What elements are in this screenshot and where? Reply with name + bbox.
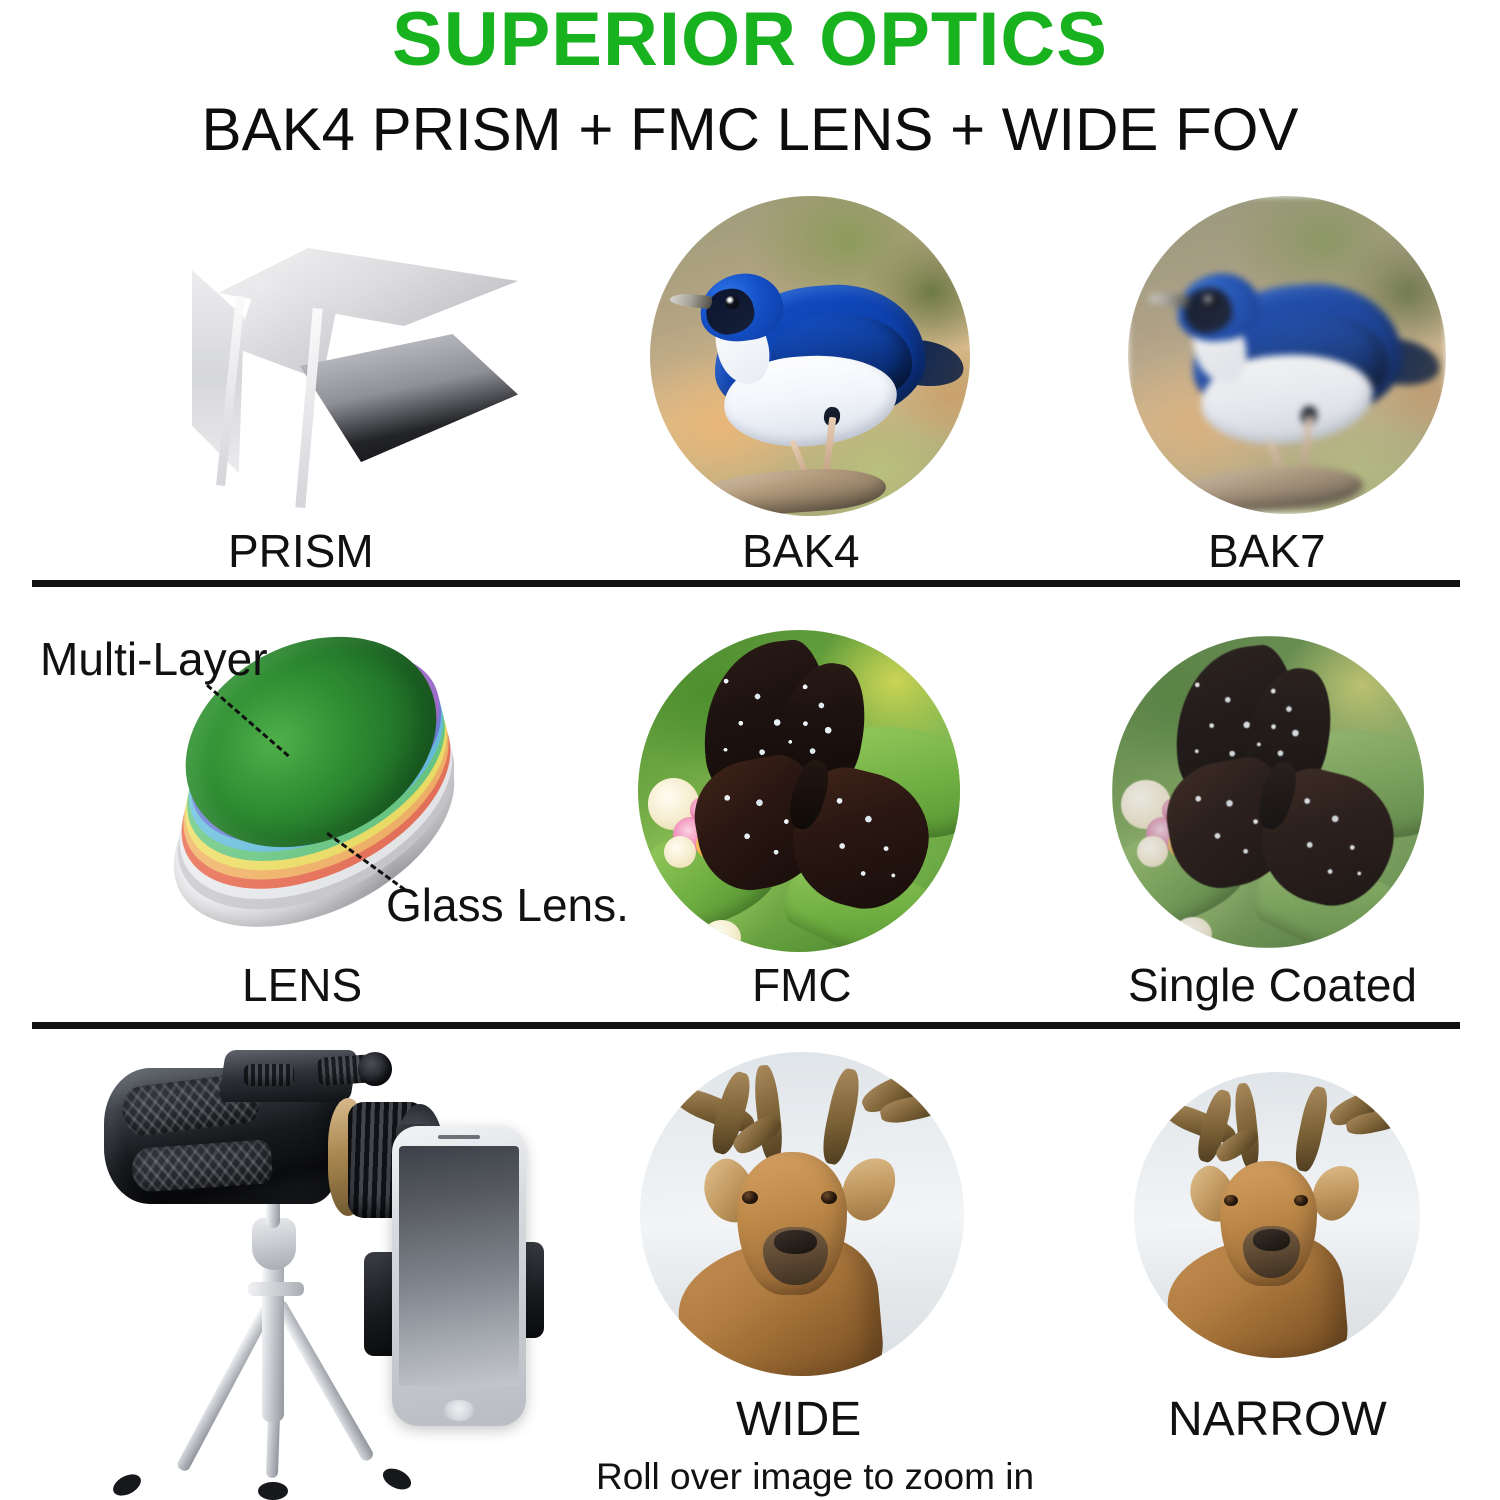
deer-narrow-field-photo	[1134, 1072, 1420, 1358]
row-divider-2	[32, 1022, 1460, 1029]
product-infographic: SUPERIOR OPTICS BAK4 PRISM + FMC LENS + …	[0, 0, 1500, 1500]
callout-multi-layer: Multi-Layer	[40, 636, 268, 682]
caption-lens: LENS	[242, 962, 362, 1008]
caption-fmc: FMC	[752, 962, 852, 1008]
page-title: SUPERIOR OPTICS	[0, 2, 1500, 78]
smartphone-mockup	[392, 1126, 526, 1426]
row-divider-1	[32, 580, 1460, 587]
caption-bak7: BAK7	[1208, 528, 1326, 574]
blue-bird-sharp-photo	[650, 196, 970, 516]
zoom-hint-overlay: Roll over image to zoom in	[596, 1456, 1034, 1498]
caption-bak4: BAK4	[742, 528, 860, 574]
butterfly-dull-photo	[1112, 636, 1424, 948]
monocular-tripod-phone-product-photo	[96, 1046, 576, 1486]
page-subtitle: BAK4 PRISM + FMC LENS + WIDE FOV	[0, 100, 1500, 160]
glass-prism-illustration	[188, 248, 518, 516]
caption-narrow: NARROW	[1168, 1396, 1387, 1444]
caption-prism: PRISM	[228, 528, 374, 574]
deer-wide-field-photo	[640, 1052, 964, 1376]
caption-wide: WIDE	[736, 1396, 861, 1444]
blue-bird-blurred-photo	[1128, 196, 1446, 514]
butterfly-vivid-photo	[638, 630, 960, 952]
caption-single-coated: Single Coated	[1128, 962, 1417, 1008]
callout-glass-lens: Glass Lens.	[386, 882, 629, 928]
